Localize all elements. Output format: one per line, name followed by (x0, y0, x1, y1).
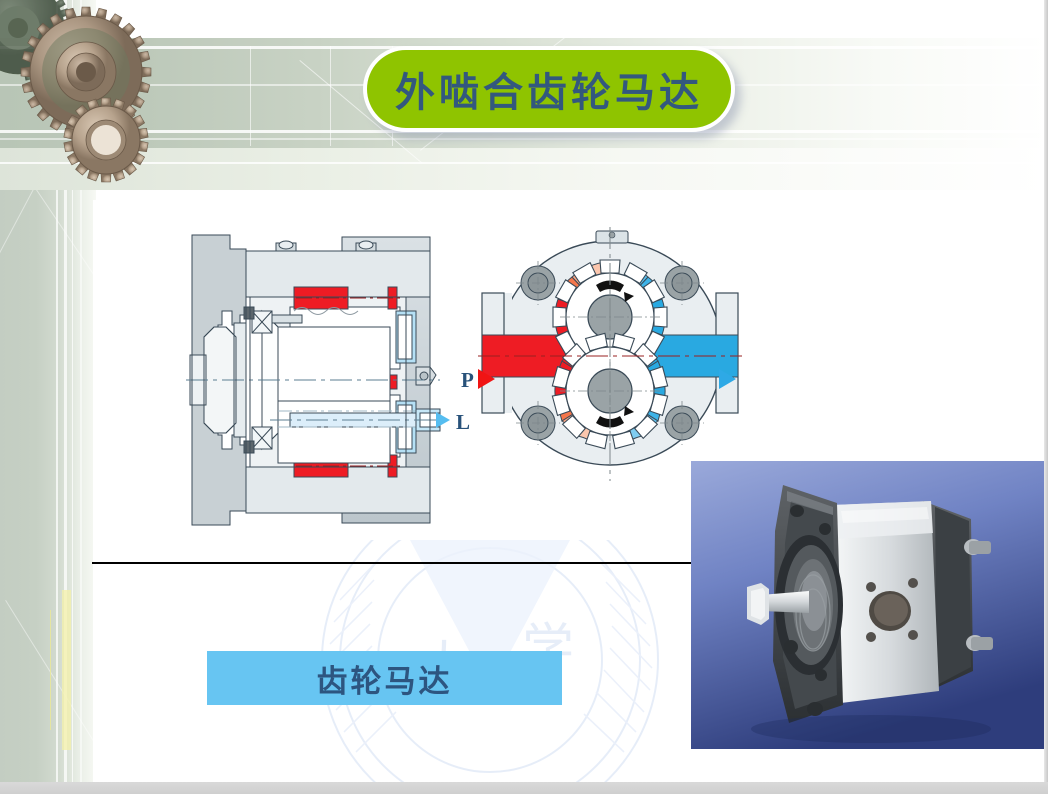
header-highlight-4 (0, 138, 1048, 140)
section-divider (92, 562, 692, 564)
leak-arrow-icon (436, 412, 450, 428)
gear-pump-photo (691, 461, 1045, 749)
leak-port-label: L (456, 410, 470, 435)
header-band-lower (0, 148, 1048, 190)
outlet-arrow-icon (719, 369, 736, 389)
right-edge-border (1044, 0, 1048, 782)
pressure-port-label: P (461, 368, 474, 393)
page-title: 外啮合齿轮马达 (395, 60, 703, 118)
caption-box: 齿轮马达 (207, 651, 562, 705)
header-vertical-2 (330, 46, 331, 146)
header-vertical-1 (250, 46, 251, 146)
slide-title-pill: 外啮合齿轮马达 (363, 46, 735, 132)
gear-motor-diagram (100, 215, 760, 545)
sidebar-accent-line (50, 610, 51, 730)
slide-root: 大 学 (0, 0, 1048, 794)
pressure-arrow-icon (478, 369, 495, 389)
end-view-gear-pair (478, 227, 742, 481)
caption-label: 齿轮马达 (317, 656, 453, 701)
cross-section-view (186, 235, 448, 525)
header-lower-highlight (0, 162, 1048, 164)
sidebar-accent-bar (62, 590, 71, 750)
bottom-strip (0, 782, 1048, 794)
